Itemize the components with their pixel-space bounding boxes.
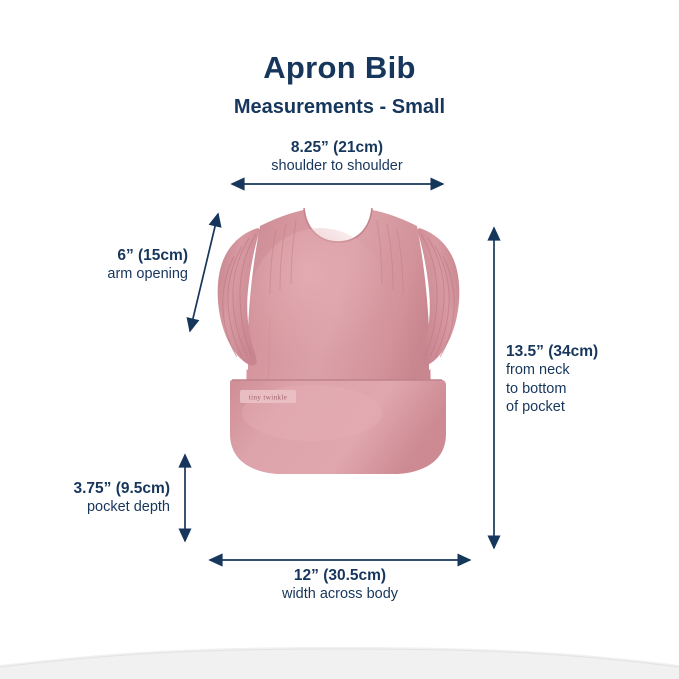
neck-to-pocket-description-3: of pocket [506, 398, 671, 416]
page-title: Apron Bib [0, 50, 679, 86]
page-subtitle: Measurements - Small [0, 96, 679, 119]
bottom-shadow-band [0, 631, 679, 679]
width-value: 12” (30.5cm) [240, 566, 440, 585]
svg-text:tiny twinkle: tiny twinkle [249, 394, 287, 402]
width-description: width across body [240, 585, 440, 603]
measurement-label-width: 12” (30.5cm) width across body [240, 566, 440, 604]
shoulder-value: 8.25” (21cm) [237, 138, 437, 157]
neck-to-pocket-description-1: from neck [506, 361, 671, 379]
neck-to-pocket-description-2: to bottom [506, 380, 671, 398]
diagram-canvas: Apron Bib Measurements - Small [0, 0, 679, 679]
measurement-label-shoulder: 8.25” (21cm) shoulder to shoulder [237, 138, 437, 176]
neck-to-pocket-value: 13.5” (34cm) [506, 342, 671, 361]
shoulder-description: shoulder to shoulder [237, 157, 437, 175]
measurement-label-neck-to-pocket: 13.5” (34cm) from neck to bottom of pock… [506, 342, 671, 416]
pocket-depth-description: pocket depth [5, 498, 170, 516]
measurement-label-arm-opening: 6” (15cm) arm opening [28, 246, 188, 284]
arm-opening-description: arm opening [28, 265, 188, 283]
apron-bib-illustration: tiny twinkle [192, 198, 482, 528]
arm-opening-value: 6” (15cm) [28, 246, 188, 265]
pocket-depth-value: 3.75” (9.5cm) [5, 479, 170, 498]
measurement-label-pocket-depth: 3.75” (9.5cm) pocket depth [5, 479, 170, 517]
